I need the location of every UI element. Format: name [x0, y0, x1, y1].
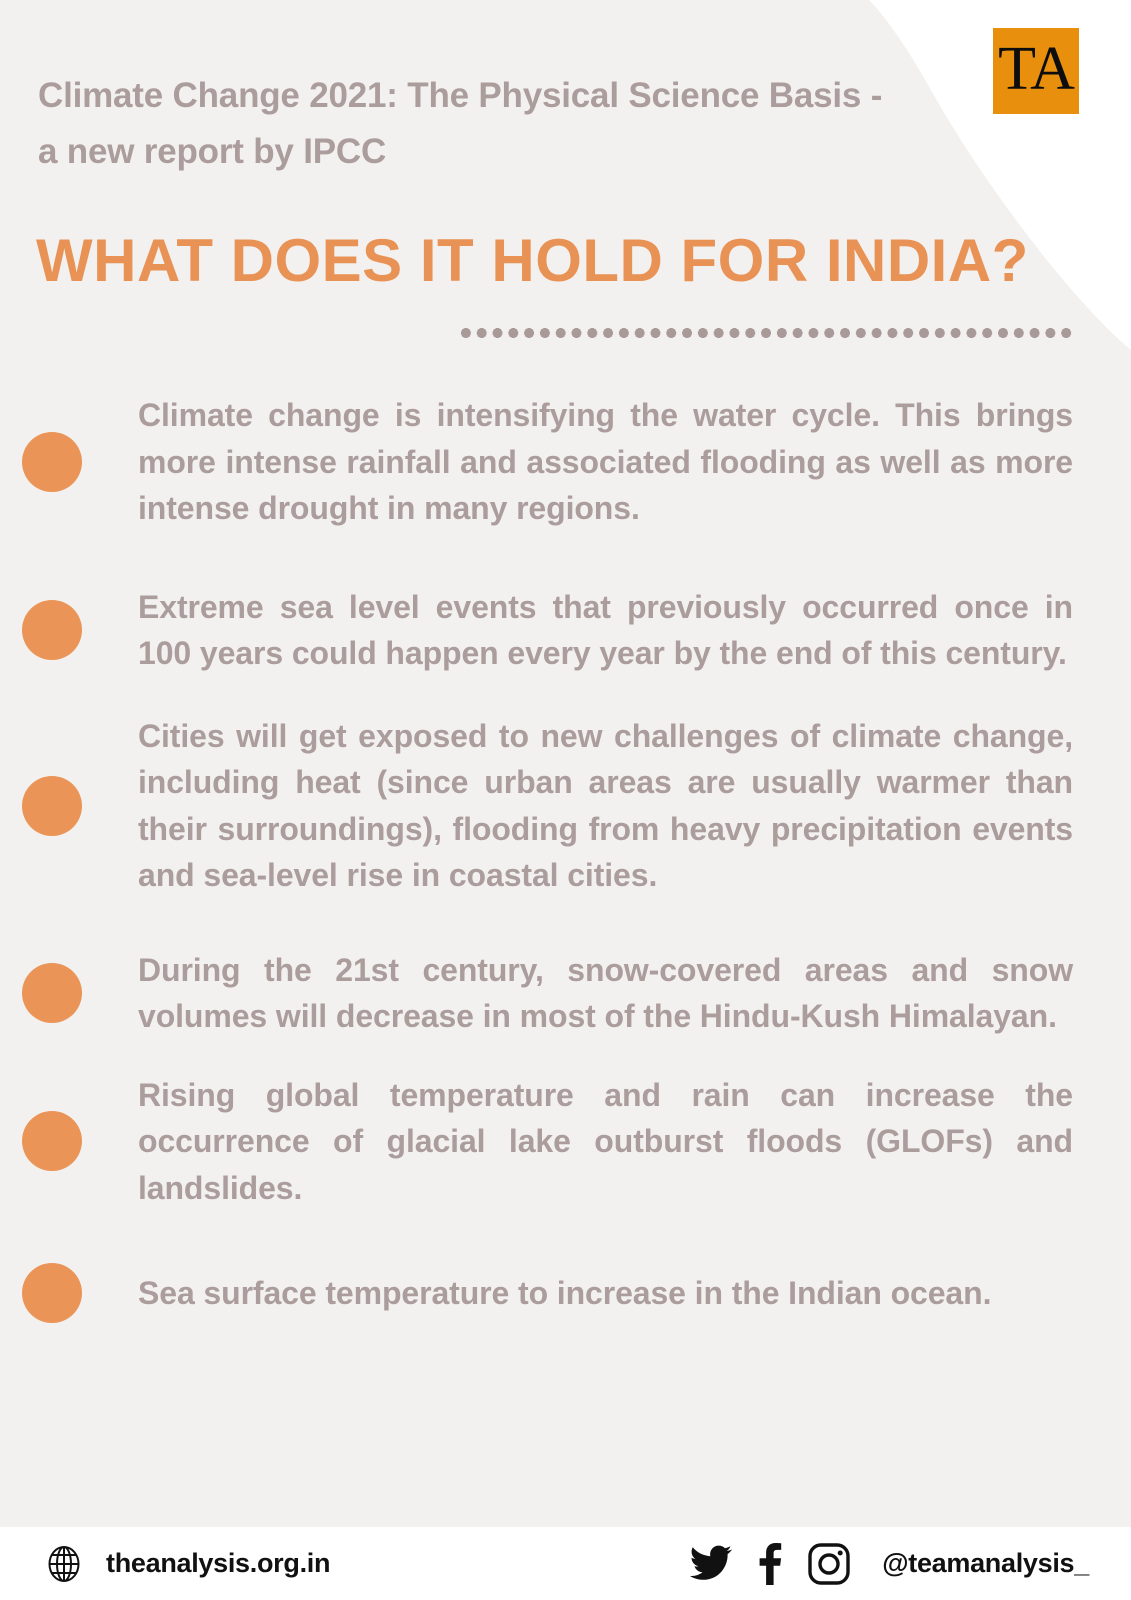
footer-website-group[interactable]: theanalysis.org.in — [44, 1544, 330, 1584]
globe-icon — [44, 1544, 84, 1584]
footer-bar: theanalysis.org.in @teamanalysis_ — [0, 1527, 1131, 1600]
bullet-dot-icon — [22, 1263, 82, 1323]
list-item-text: During the 21st century, snow-covered ar… — [138, 947, 1073, 1040]
website-label: theanalysis.org.in — [106, 1548, 330, 1579]
list-item-text: Climate change is intensifying the water… — [138, 392, 1073, 532]
list-item: Extreme sea level events that previously… — [0, 584, 1131, 677]
bullet-dot-icon — [22, 963, 82, 1023]
bullet-dot-icon — [22, 432, 82, 492]
brand-logo: TA — [993, 28, 1079, 114]
social-handle-label: @teamanalysis_ — [882, 1548, 1089, 1579]
footer-social-group: @teamanalysis_ — [690, 1543, 1089, 1585]
page-title: WHAT DOES IT HOLD FOR INDIA? — [36, 228, 1029, 294]
bullet-dot-icon — [22, 600, 82, 660]
list-item: Climate change is intensifying the water… — [0, 392, 1131, 532]
facebook-icon[interactable] — [758, 1543, 782, 1585]
list-item-text: Sea surface temperature to increase in t… — [138, 1270, 1073, 1317]
infographic-poster: Climate Change 2021: The Physical Scienc… — [0, 0, 1131, 1600]
list-item: Sea surface temperature to increase in t… — [0, 1263, 1131, 1323]
list-item: Rising global temperature and rain can i… — [0, 1072, 1131, 1212]
list-item-text: Rising global temperature and rain can i… — [138, 1072, 1073, 1212]
list-item-text: Extreme sea level events that previously… — [138, 584, 1073, 677]
report-subtitle: Climate Change 2021: The Physical Scienc… — [38, 68, 908, 180]
dotted-divider — [458, 328, 1072, 338]
list-item-text: Cities will get exposed to new challenge… — [138, 713, 1073, 899]
bullet-dot-icon — [22, 776, 82, 836]
list-item: Cities will get exposed to new challenge… — [0, 713, 1131, 899]
brand-logo-text: TA — [998, 38, 1074, 104]
bullet-list: Climate change is intensifying the water… — [0, 392, 1131, 1323]
instagram-icon[interactable] — [808, 1543, 850, 1585]
list-item: During the 21st century, snow-covered ar… — [0, 947, 1131, 1040]
twitter-icon[interactable] — [690, 1545, 732, 1583]
bullet-dot-icon — [22, 1111, 82, 1171]
